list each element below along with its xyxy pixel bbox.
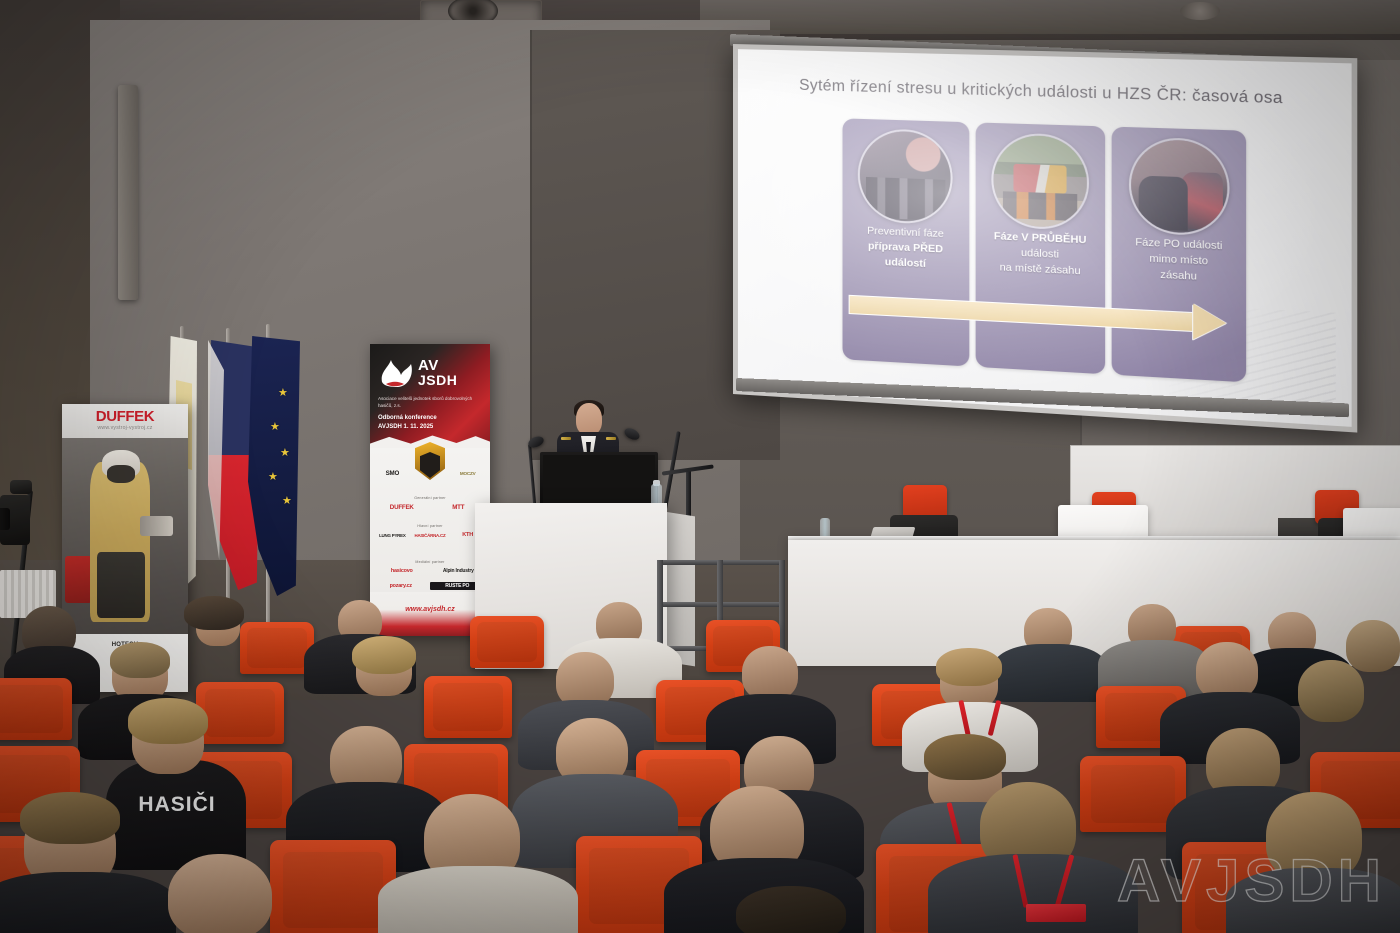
conference-hall-photo: Sytém řízení stresu u kritických událost… bbox=[0, 0, 1400, 933]
audience-shoulders bbox=[0, 872, 176, 933]
audience-hair bbox=[736, 886, 846, 933]
sponsor-group-label: Mediální partner bbox=[376, 560, 484, 564]
eu-star-icon: ★ bbox=[270, 422, 280, 433]
sponsor-row-media: hasicovo Alpin Industry bbox=[375, 568, 485, 574]
phase-card-after-text: Fáze PO události mimo místo zásahu bbox=[1116, 235, 1241, 287]
flame-logo-icon bbox=[378, 356, 416, 390]
phase-card-during: Fáze V PRŮBĚHU události na místě zásahu bbox=[975, 122, 1105, 374]
conference-line2: AVJSDH 1. 11. 2025 bbox=[378, 424, 433, 430]
camera-lens-icon bbox=[0, 508, 10, 530]
head-table-chair bbox=[903, 485, 947, 519]
sponsor-logo: MOCZV bbox=[450, 471, 485, 476]
conference-info: Odborná konference AVJSDH 1. 11. 2025 bbox=[378, 414, 482, 432]
aftermath-photo bbox=[1129, 137, 1230, 237]
rank-insignia-left bbox=[561, 437, 571, 440]
audience-shoulders bbox=[992, 644, 1108, 702]
audience-shoulders bbox=[378, 866, 578, 933]
audience-hair bbox=[110, 642, 170, 678]
audience-head bbox=[1346, 620, 1400, 672]
auditorium-seat bbox=[424, 676, 512, 738]
road-accident-photo bbox=[991, 132, 1089, 231]
avjsdh-banner-header: AV JSDH Asociace velitelů jednotek sborů… bbox=[370, 344, 490, 456]
sponsor-logo: LUNG PYREX bbox=[375, 533, 410, 538]
audience-hair bbox=[184, 596, 244, 630]
sponsor-area: SMO MOCZV Generální partner DUFFEK MTT H… bbox=[370, 448, 490, 598]
briefing-photo bbox=[858, 128, 953, 225]
audience-hair bbox=[20, 792, 120, 844]
audience-hair bbox=[128, 698, 208, 744]
auditorium-seat bbox=[240, 622, 314, 674]
avjsdh-brand-jsdh: JSDH bbox=[418, 373, 457, 388]
ceiling-light-strip bbox=[700, 0, 1400, 34]
sponsor-group-label: Generální partner bbox=[376, 496, 484, 500]
sponsor-logo: DUFFEK bbox=[375, 504, 429, 511]
camera-top-handle bbox=[10, 480, 32, 494]
ceiling-vent-small bbox=[1180, 2, 1220, 20]
avjsdh-brand: AV JSDH bbox=[418, 358, 457, 388]
duffek-banner-header: DUFFEK www.vystroj-vystroj.cz bbox=[62, 404, 188, 438]
audience-hair bbox=[936, 648, 1002, 686]
sponsor-row-main: LUNG PYREX HASIČÁRNA.CZ KTH bbox=[375, 532, 485, 538]
auditorium-seat bbox=[0, 678, 72, 740]
presentation-slide: Sytém řízení stresu u kritických událost… bbox=[738, 49, 1352, 427]
audience-head bbox=[168, 854, 272, 933]
wall-seam bbox=[530, 30, 532, 460]
sponsor-logo: HASIČÁRNA.CZ bbox=[413, 533, 448, 538]
auditorium-seat bbox=[470, 616, 544, 668]
sponsor-logo: SMO bbox=[375, 470, 410, 477]
audience-hair bbox=[352, 636, 416, 674]
association-line: Asociace velitelů jednotek sborů dobrovo… bbox=[378, 396, 482, 409]
audience-hair bbox=[1298, 660, 1364, 722]
name-badge bbox=[1026, 904, 1086, 922]
watermark: AVJSDH bbox=[1117, 846, 1386, 915]
eu-star-icon: ★ bbox=[280, 448, 290, 459]
wall-speaker bbox=[118, 85, 138, 300]
phase-card-prevention: Preventivní fáze příprava PŘED událostí bbox=[843, 118, 969, 366]
auditorium-seat bbox=[196, 682, 284, 744]
conference-line1: Odborná konference bbox=[378, 415, 437, 421]
projection-screen: Sytém řízení stresu u kritických událost… bbox=[733, 44, 1357, 433]
eu-star-icon: ★ bbox=[268, 472, 278, 483]
phase-card-prevention-text: Preventivní fáze příprava PŘED událostí bbox=[847, 224, 965, 274]
eu-star-icon: ★ bbox=[278, 388, 288, 399]
sponsor-row-drager: Dräger bbox=[375, 546, 485, 552]
duffek-url: www.vystroj-vystroj.cz bbox=[62, 425, 188, 431]
slide-title: Sytém řízení stresu u kritických událost… bbox=[738, 75, 1352, 110]
podium-monitor bbox=[540, 452, 658, 507]
duffek-logo: DUFFEK bbox=[62, 408, 188, 425]
audience-head bbox=[742, 646, 798, 700]
hasici-shirt-text: HASIČI bbox=[112, 793, 242, 817]
sponsor-row-institutions: SMO MOCZV bbox=[375, 470, 485, 477]
audience-hair bbox=[924, 734, 1006, 780]
speaker-head bbox=[576, 403, 602, 435]
sponsor-group-label: Hlavní partner bbox=[376, 524, 484, 528]
eu-star-icon: ★ bbox=[282, 496, 292, 507]
sponsor-logo: hasicovo bbox=[375, 568, 429, 574]
phase-card-during-text: Fáze V PRŮBĚHU události na místě zásahu bbox=[979, 229, 1101, 280]
rank-insignia-right bbox=[606, 437, 616, 440]
sponsor-row-general: DUFFEK MTT bbox=[375, 504, 485, 511]
